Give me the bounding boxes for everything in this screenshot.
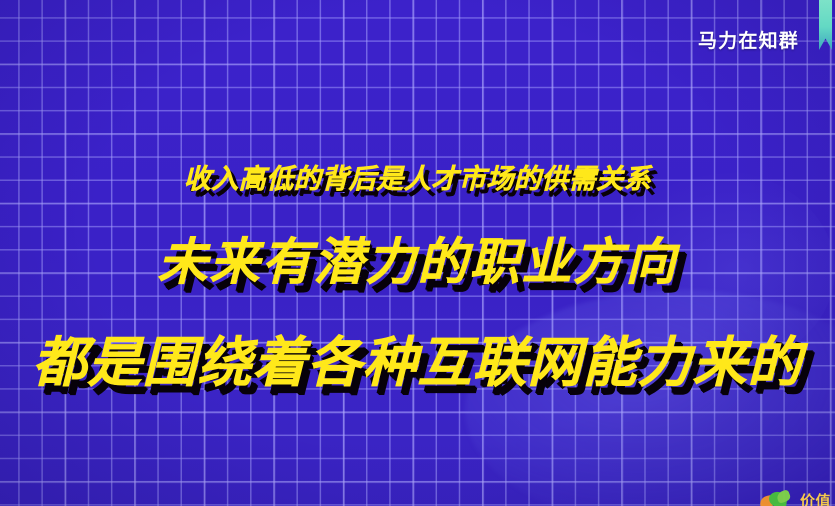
headline-line-3: 都是围绕着各种互联网能力来的 <box>0 336 835 390</box>
headline-line-2: 未来有潜力的职业方向 <box>0 237 835 287</box>
slide-canvas: 马力在知群 收入高低的背后是人才市场的供需关系 未来有潜力的职业方向 都是围绕着… <box>0 0 835 506</box>
leaf-logo-icon <box>760 488 794 506</box>
brand-logo: 价值 <box>760 488 831 506</box>
brand-label: 价值 <box>800 493 831 506</box>
channel-watermark: 马力在知群 <box>698 26 799 53</box>
headline-line-1: 收入高低的背后是人才市场的供需关系 <box>0 166 835 193</box>
